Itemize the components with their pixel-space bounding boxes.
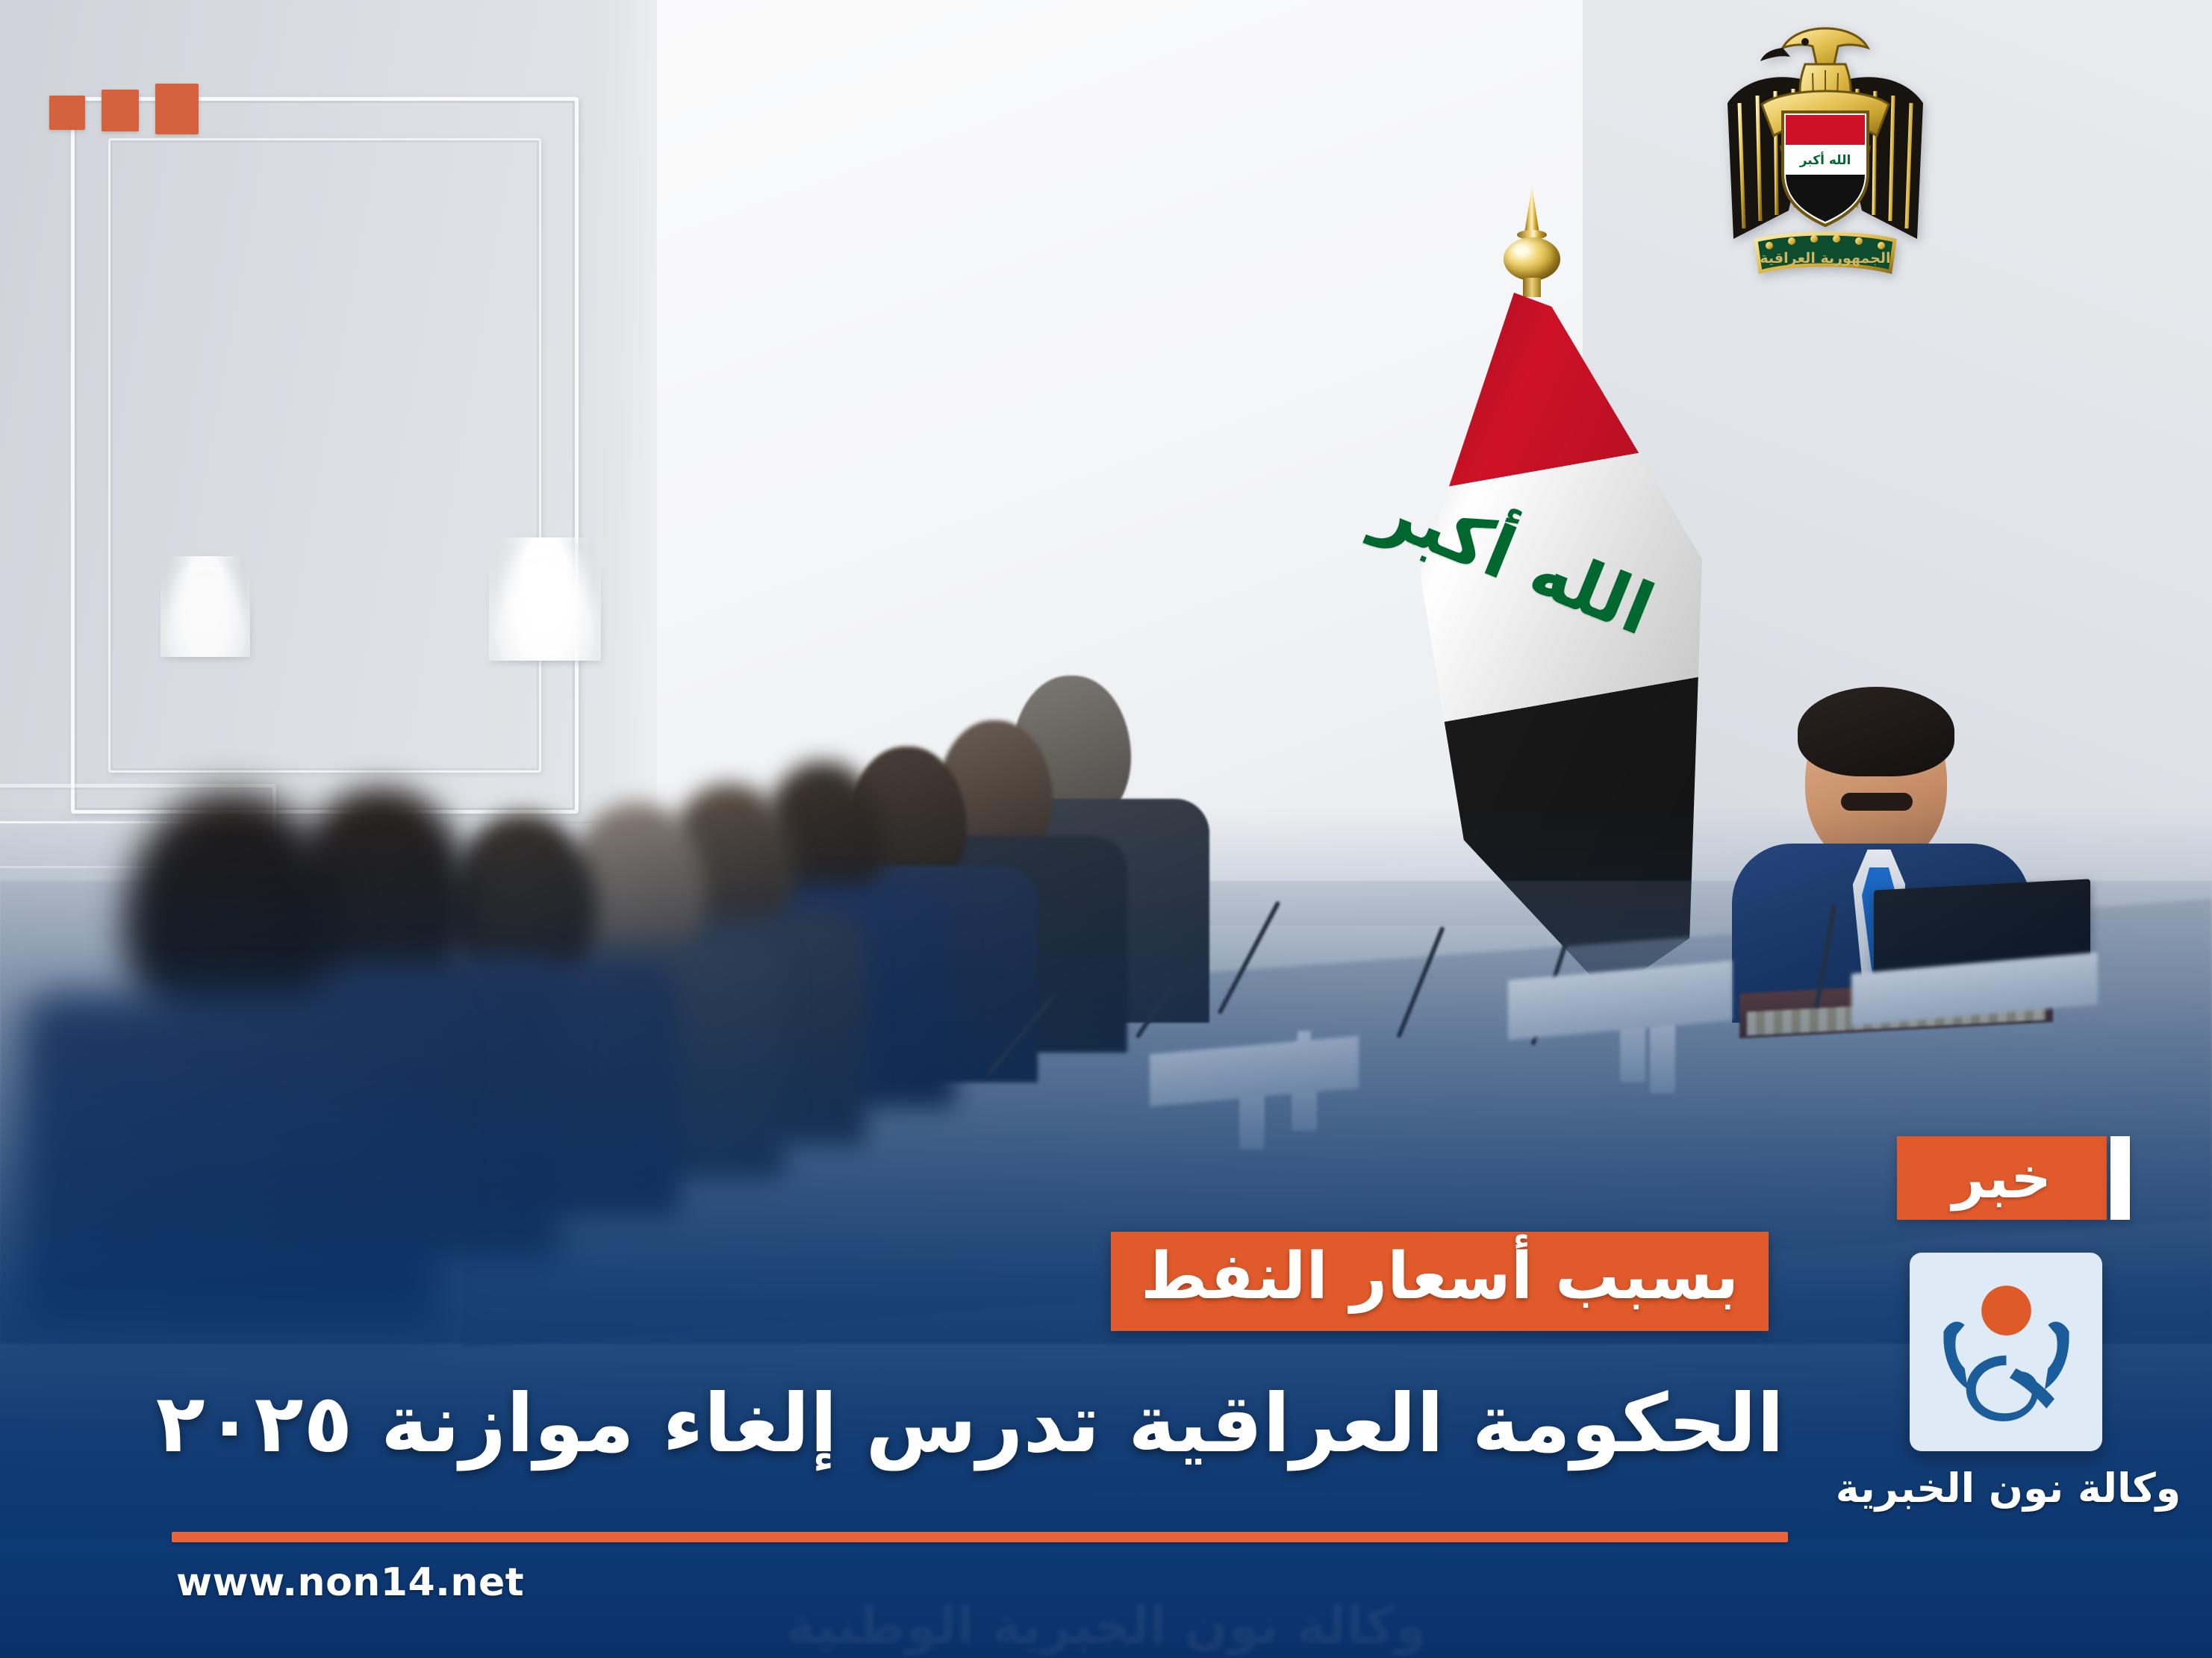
badge-white-tick bbox=[2110, 1136, 2130, 1220]
flag-finial-icon bbox=[1501, 187, 1563, 299]
wall-moulding-panel-inner bbox=[108, 138, 541, 773]
plaster-scroll-icon bbox=[161, 556, 250, 657]
news-badge: خبر bbox=[1897, 1136, 2107, 1220]
blue-gradient-overlay bbox=[0, 806, 2212, 1658]
non-nun-logo-icon bbox=[1910, 1253, 2102, 1451]
headline-kicker-label: بسبب أسعار النفط bbox=[1141, 1242, 1739, 1312]
svg-text:الله أكبر: الله أكبر bbox=[1799, 152, 1851, 168]
news-badge-label: خبر bbox=[1952, 1150, 2051, 1206]
orange-divider bbox=[172, 1532, 1788, 1542]
website-url: www.non14.net bbox=[176, 1560, 524, 1605]
page-title: الحكومة العراقية تدرس إلغاء موازنة ٢٠٢٥ bbox=[172, 1380, 1784, 1470]
three-orange-bars-icon bbox=[49, 84, 199, 134]
headline-kicker: بسبب أسعار النفط bbox=[1111, 1232, 1769, 1331]
svg-text:الجمهورية العراقية: الجمهورية العراقية bbox=[1760, 250, 1890, 267]
iraq-coat-of-arms-eagle-of-saladin-icon: الله أكبر الجمهورية العراقية bbox=[1717, 15, 1934, 299]
plaster-rosette-icon bbox=[489, 537, 601, 661]
agency-name: وكالة نون الخبرية bbox=[1822, 1465, 2195, 1512]
news-card: الله أكبر bbox=[0, 0, 2212, 1658]
